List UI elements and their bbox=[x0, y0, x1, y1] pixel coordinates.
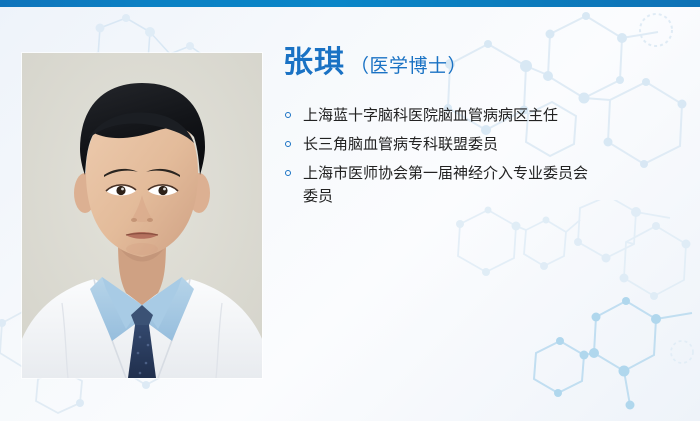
doctor-name: 张琪 bbox=[283, 46, 345, 79]
bullet-circle-icon bbox=[285, 112, 291, 118]
molecule-pattern-icon bbox=[430, 200, 700, 390]
list-item: 上海蓝十字脑科医院脑血管病病区主任 bbox=[283, 104, 599, 127]
molecule-pattern-icon bbox=[496, 287, 700, 421]
list-item: 长三角脑血管病专科联盟委员 bbox=[283, 133, 599, 156]
credential-text: 长三角脑血管病专科联盟委员 bbox=[303, 136, 498, 153]
list-item: 上海市医师协会第一届神经介入专业委员会委员 bbox=[283, 162, 599, 208]
bullet-circle-icon bbox=[285, 170, 291, 176]
top-accent-bar bbox=[0, 0, 700, 7]
doctor-portrait-photo bbox=[22, 53, 262, 378]
doctor-profile-slide: 张琪（医学博士） 上海蓝十字脑科医院脑血管病病区主任 长三角脑血管病专科联盟委员… bbox=[0, 0, 700, 421]
doctor-name-line: 张琪（医学博士） bbox=[283, 48, 683, 78]
profile-info-block: 张琪（医学博士） 上海蓝十字脑科医院脑血管病病区主任 长三角脑血管病专科联盟委员… bbox=[283, 48, 683, 214]
bullet-circle-icon bbox=[285, 141, 291, 147]
credential-text: 上海蓝十字脑科医院脑血管病病区主任 bbox=[303, 107, 558, 124]
credentials-list: 上海蓝十字脑科医院脑血管病病区主任 长三角脑血管病专科联盟委员 上海市医师协会第… bbox=[283, 104, 683, 208]
doctor-degree: （医学博士） bbox=[350, 56, 467, 77]
credential-text: 上海市医师协会第一届神经介入专业委员会委员 bbox=[303, 165, 588, 205]
